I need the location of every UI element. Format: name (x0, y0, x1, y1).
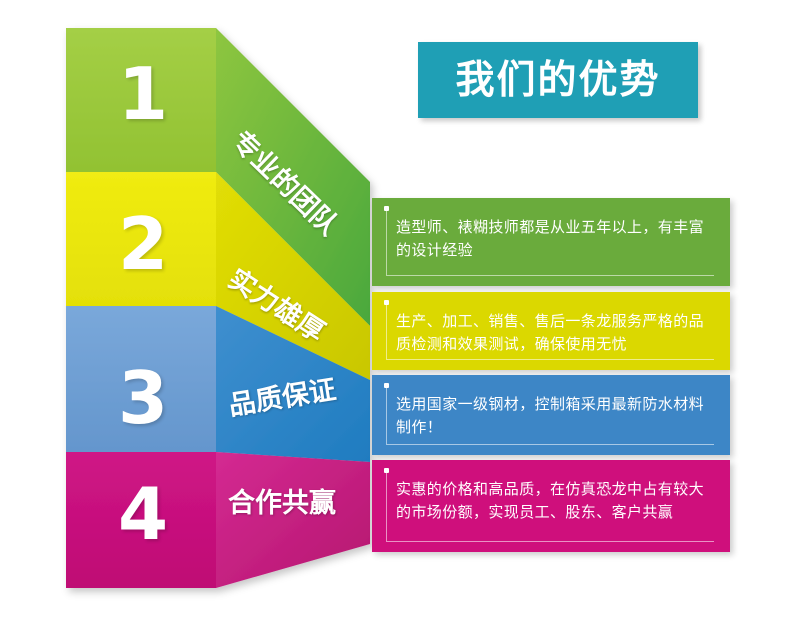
step-3-description-text: 选用国家一级钢材，控制箱采用最新防水材料制作！ (396, 393, 714, 440)
step-1-description-box: 造型师、裱糊技师都是从业五年以上，有丰富的设计经验 (372, 198, 730, 286)
step-4-label: 合作共赢 (228, 490, 336, 517)
step-1-number: 1 (118, 58, 168, 130)
step-2-number: 2 (118, 208, 168, 280)
step-4-description-text: 实惠的价格和高品质，在仿真恐龙中占有较大的市场份额，实现员工、股东、客户共赢 (396, 478, 714, 525)
step-4-description-box: 实惠的价格和高品质，在仿真恐龙中占有较大的市场份额，实现员工、股东、客户共赢 (372, 460, 730, 552)
step-2-description-text: 生产、加工、销售、售后一条龙服务严格的品质检测和效果测试，确保使用无忧 (396, 310, 714, 357)
bullet-dot-icon (384, 468, 389, 473)
step-3-number: 3 (118, 362, 168, 434)
bullet-dot-icon (384, 383, 389, 388)
step-1-description-text: 造型师、裱糊技师都是从业五年以上，有丰富的设计经验 (396, 216, 714, 263)
step-3-description-box: 选用国家一级钢材，控制箱采用最新防水材料制作！ (372, 375, 730, 455)
step-4-side-face (216, 452, 370, 588)
infographic-canvas: 我们的优势 (0, 0, 800, 622)
step-2-description-box: 生产、加工、销售、售后一条龙服务严格的品质检测和效果测试，确保使用无忧 (372, 292, 730, 370)
bullet-dot-icon (384, 206, 389, 211)
bullet-dot-icon (384, 300, 389, 305)
step-4-number: 4 (118, 478, 168, 550)
